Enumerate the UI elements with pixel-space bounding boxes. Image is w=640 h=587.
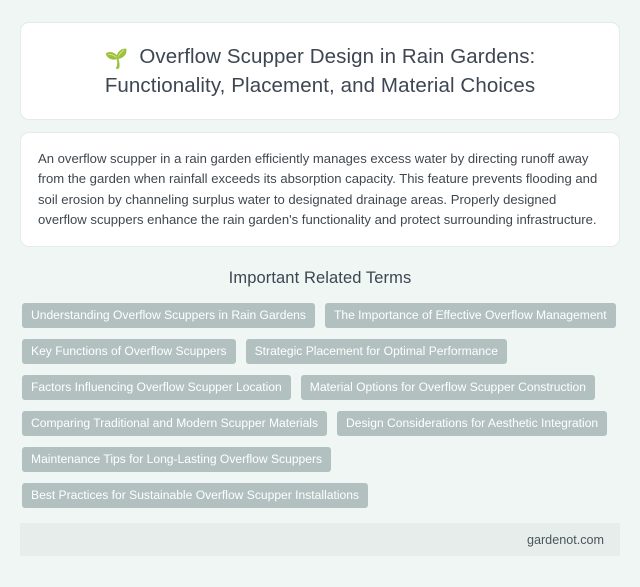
related-term-pill[interactable]: Understanding Overflow Scuppers in Rain … [22, 303, 315, 328]
footer-band: gardenot.com [20, 523, 620, 556]
seedling-icon: 🌱 [105, 49, 129, 70]
related-terms-heading: Important Related Terms [20, 269, 620, 288]
related-term-pill[interactable]: Maintenance Tips for Long-Lasting Overfl… [22, 447, 331, 472]
page-root: 🌱Overflow Scupper Design in Rain Gardens… [0, 0, 640, 587]
related-term-pill[interactable]: Comparing Traditional and Modern Scupper… [22, 411, 327, 436]
description-card: An overflow scupper in a rain garden eff… [20, 132, 620, 247]
footer-site-name: gardenot.com [527, 533, 604, 547]
page-title-text: Overflow Scupper Design in Rain Gardens:… [105, 45, 536, 97]
title-card: 🌱Overflow Scupper Design in Rain Gardens… [20, 22, 620, 120]
title-wrap: 🌱Overflow Scupper Design in Rain Gardens… [47, 28, 593, 113]
related-term-pill[interactable]: Factors Influencing Overflow Scupper Loc… [22, 375, 291, 400]
related-term-pill[interactable]: The Importance of Effective Overflow Man… [325, 303, 616, 328]
related-term-pill[interactable]: Design Considerations for Aesthetic Inte… [337, 411, 607, 436]
description-text: An overflow scupper in a rain garden eff… [38, 149, 602, 231]
page-title: 🌱Overflow Scupper Design in Rain Gardens… [47, 42, 593, 100]
related-term-pill[interactable]: Strategic Placement for Optimal Performa… [246, 339, 507, 364]
related-terms-list: Understanding Overflow Scuppers in Rain … [20, 303, 620, 508]
related-term-pill[interactable]: Material Options for Overflow Scupper Co… [301, 375, 595, 400]
related-term-pill[interactable]: Key Functions of Overflow Scuppers [22, 339, 236, 364]
related-term-pill[interactable]: Best Practices for Sustainable Overflow … [22, 483, 368, 508]
